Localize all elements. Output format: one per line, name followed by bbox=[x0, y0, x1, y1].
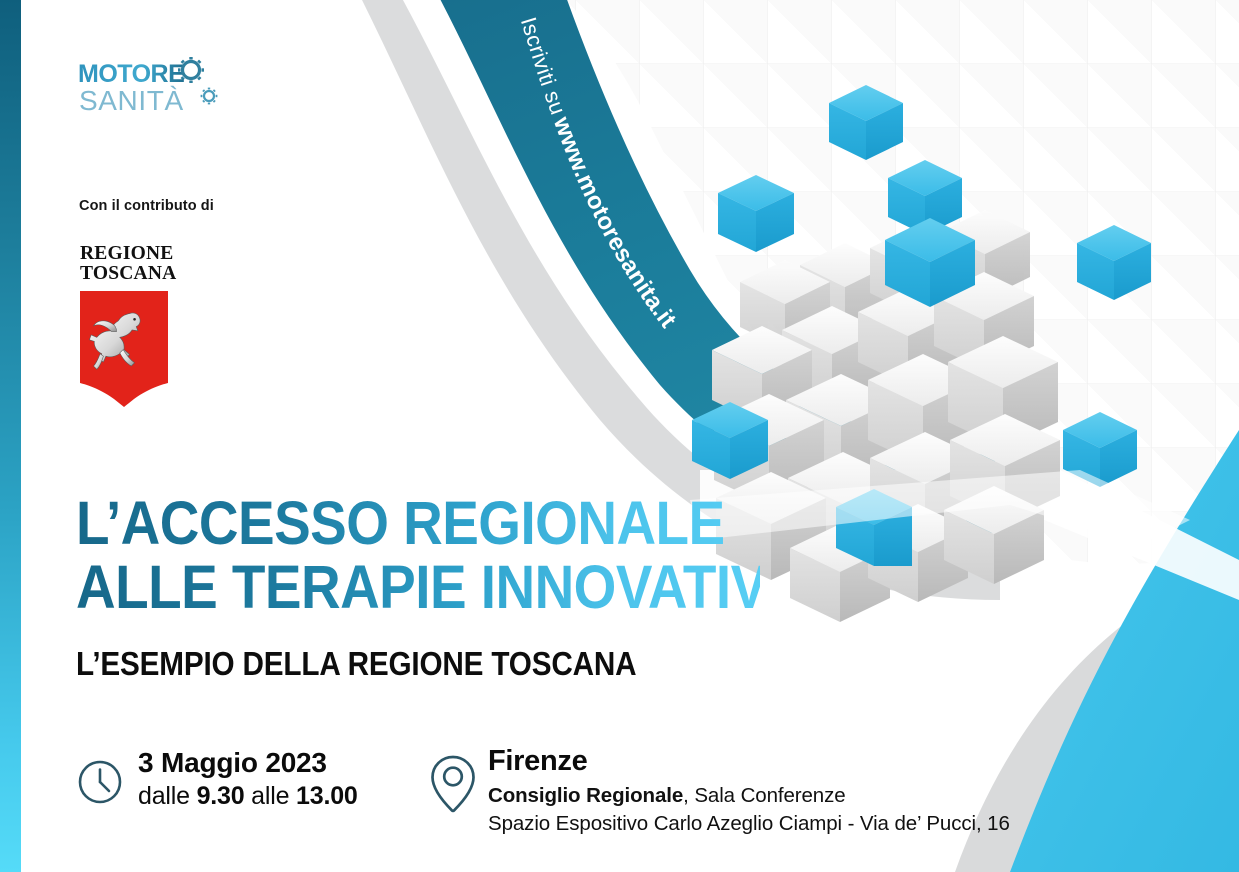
title-line-2: ALLE TERAPIE INNOVATIVE bbox=[76, 558, 760, 618]
event-info-row: 3 Maggio 2023 dalle 9.30 alle 13.00 Fire… bbox=[76, 744, 1010, 837]
event-time: dalle 9.30 alle 13.00 bbox=[138, 781, 358, 811]
logo-text-motore: MOTORE bbox=[78, 60, 184, 88]
teal-arc bbox=[430, 0, 995, 533]
datetime-text: 3 Maggio 2023 dalle 9.30 alle 13.00 bbox=[138, 744, 358, 811]
event-date: 3 Maggio 2023 bbox=[138, 746, 358, 779]
clock-icon-slot bbox=[76, 744, 138, 806]
logo-text-sanita: SANITÀ bbox=[79, 85, 184, 116]
venue-secondary: , Sala Conferenze bbox=[683, 784, 845, 807]
venue-primary: Consiglio Regionale bbox=[488, 784, 683, 807]
time-middle: alle bbox=[244, 782, 296, 810]
time-start: 9.30 bbox=[197, 782, 245, 810]
left-edge-accent-stripe bbox=[0, 0, 21, 872]
sponsor-label: Con il contributo di bbox=[79, 198, 214, 214]
background-artwork bbox=[0, 0, 1239, 872]
event-datetime-block: 3 Maggio 2023 dalle 9.30 alle 13.00 bbox=[76, 744, 426, 811]
clock-icon bbox=[76, 758, 124, 806]
poster-subtitle: L’ESEMPIO DELLA REGIONE TOSCANA bbox=[76, 645, 636, 683]
registration-prefix: Iscriviti su bbox=[516, 14, 571, 118]
gear-icon-small bbox=[201, 88, 218, 105]
poster-title: L’ACCESSO REGIONALE ALLE TERAPIE INNOVAT… bbox=[76, 494, 836, 618]
regione-toscana-wordmark: REGIONE TOSCANA bbox=[80, 244, 196, 284]
event-city: Firenze bbox=[488, 746, 1010, 778]
location-pin-icon-slot bbox=[426, 744, 488, 815]
cyan-swoosh bbox=[1010, 430, 1239, 872]
event-poster: Iscriviti su www.motoresanita.it MOTORE … bbox=[0, 0, 1239, 872]
motore-sanita-logo[interactable]: MOTORE SANITÀ bbox=[78, 56, 338, 124]
registration-text[interactable]: Iscriviti su www.motoresanita.it bbox=[516, 14, 682, 333]
pegasus-shield-icon bbox=[80, 291, 168, 407]
title-line-1: L’ACCESSO REGIONALE bbox=[76, 494, 760, 554]
regione-toscana-logo: REGIONE TOSCANA bbox=[76, 244, 196, 407]
gear-icon-large bbox=[178, 57, 204, 83]
logo-mark: MOTORE SANITÀ bbox=[78, 56, 228, 124]
location-text: Firenze Consiglio Regionale, Sala Confer… bbox=[488, 744, 1010, 837]
event-location-block: Firenze Consiglio Regionale, Sala Confer… bbox=[426, 744, 1010, 837]
event-address: Spazio Espositivo Carlo Azeglio Ciampi -… bbox=[488, 810, 1010, 837]
event-venue: Consiglio Regionale, Sala Conferenze bbox=[488, 782, 1010, 809]
time-prefix: dalle bbox=[138, 782, 197, 810]
registration-url[interactable]: www.motoresanita.it bbox=[548, 112, 682, 333]
registration-curved-text[interactable]: Iscriviti su www.motoresanita.it bbox=[0, 0, 1239, 872]
location-pin-icon bbox=[426, 753, 480, 815]
lowpoly-texture-panel bbox=[430, 0, 1239, 564]
time-end: 13.00 bbox=[296, 782, 358, 810]
